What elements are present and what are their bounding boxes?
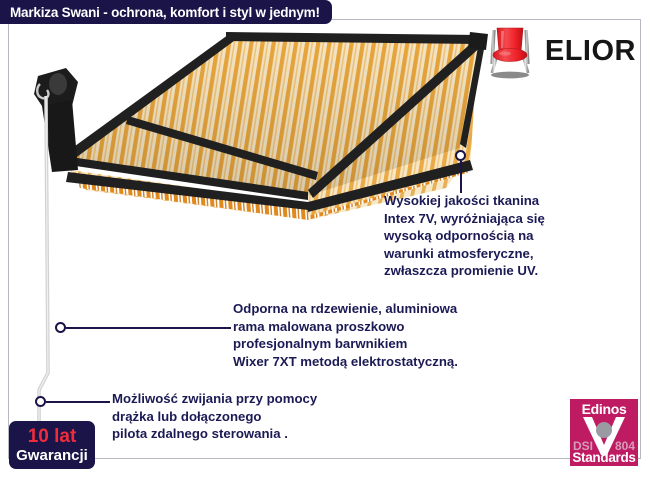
- feature-text-operation: Możliwość zwijania przy pomocy drążka lu…: [112, 390, 402, 443]
- brand-logo: ELIOR: [483, 22, 636, 80]
- title-banner: Markiza Swani - ochrona, komfort i styl …: [0, 0, 332, 24]
- product-infographic: Markiza Swani - ochrona, komfort i styl …: [0, 0, 650, 477]
- callout-dot-operation: [35, 396, 46, 407]
- warranty-badge: 10 lat Gwarancji: [9, 421, 95, 469]
- brand-name: ELIOR: [545, 37, 636, 66]
- page-title: Markiza Swani - ochrona, komfort i styl …: [10, 5, 320, 20]
- feature-text-frame: Odporna na rdzewienie, aluminiowa rama m…: [233, 300, 533, 370]
- callout-line-fabric: [460, 161, 462, 193]
- standards-brand: Edinos: [570, 401, 638, 417]
- warranty-years: 10 lat: [28, 427, 77, 447]
- callout-dot-frame: [55, 322, 66, 333]
- red-chair-icon: [483, 22, 537, 80]
- warranty-label: Gwarancji: [16, 447, 88, 464]
- standards-label: Standards: [570, 450, 638, 465]
- callout-dot-fabric: [455, 150, 466, 161]
- crank-rod: [30, 78, 70, 428]
- callout-line-frame: [66, 327, 231, 329]
- callout-line-operation: [46, 401, 110, 403]
- awning-illustration: [8, 20, 488, 220]
- feature-text-fabric: Wysokiej jakości tkanina Intex 7V, wyróż…: [384, 192, 634, 280]
- standards-badge: Edinos DSI 804 Standards: [570, 399, 638, 466]
